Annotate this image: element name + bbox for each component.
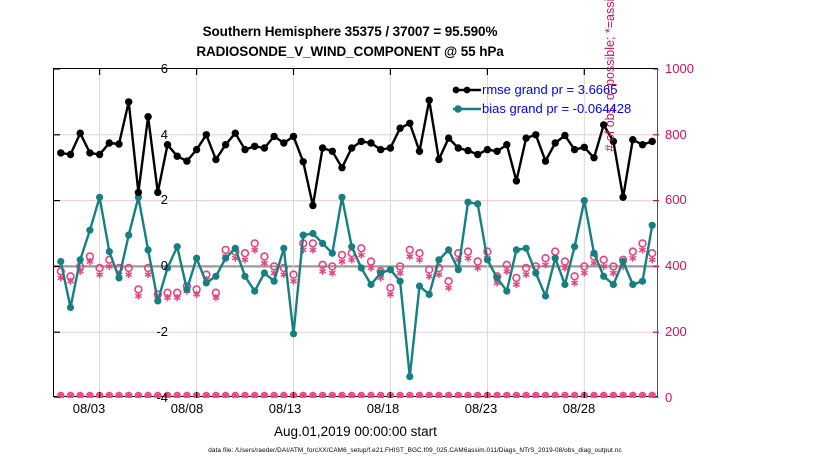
ytick-left-m2: -2 (122, 325, 168, 338)
x-axis-label: Aug.01,2019 00:00:00 start (53, 424, 658, 439)
legend-swatch-rmse-icon (452, 83, 482, 97)
xtick-0818: 08/18 (348, 401, 418, 416)
legend-swatch-bias-icon (452, 102, 482, 116)
title-line-1: Southern Hemisphere 35375 / 37007 = 95.5… (0, 22, 700, 42)
ytick-left-4: 4 (122, 128, 168, 141)
ytick-left-2: 2 (122, 193, 168, 206)
ytick-left-6: 6 (122, 62, 168, 75)
chart-legend: rmse grand pr = 3.6665 bias grand pr = -… (452, 80, 631, 118)
ytick-left-0: 0 (122, 259, 168, 272)
ytick-right-600: 600 (665, 193, 719, 206)
legend-entry-bias: bias grand pr = -0.064428 (452, 99, 631, 118)
xtick-0828: 08/28 (544, 401, 614, 416)
xtick-0823: 08/23 (446, 401, 516, 416)
ytick-right-1000: 1000 (665, 62, 719, 75)
data-file-footer: data file: /Users/raeder/DAI/ATM_forcXX/… (0, 447, 830, 454)
ytick-right-400: 400 (665, 259, 719, 272)
ytick-right-800: 800 (665, 128, 719, 141)
ytick-right-0: 0 (665, 391, 719, 404)
chart-page: Southern Hemisphere 35375 / 37007 = 95.5… (0, 0, 830, 470)
title-line-2: RADIOSONDE_V_WIND_COMPONENT @ 55 hPa (0, 42, 700, 62)
xtick-0808: 08/08 (152, 401, 222, 416)
xtick-0813: 08/13 (250, 401, 320, 416)
xtick-0803: 08/03 (54, 401, 124, 416)
chart-title: Southern Hemisphere 35375 / 37007 = 95.5… (0, 22, 700, 62)
legend-entry-rmse: rmse grand pr = 3.6665 (452, 80, 631, 99)
chart-canvas (54, 69, 659, 398)
legend-label-bias: bias grand pr = -0.064428 (482, 101, 631, 116)
legend-label-rmse: rmse grand pr = 3.6665 (482, 82, 618, 97)
ytick-right-200: 200 (665, 325, 719, 338)
